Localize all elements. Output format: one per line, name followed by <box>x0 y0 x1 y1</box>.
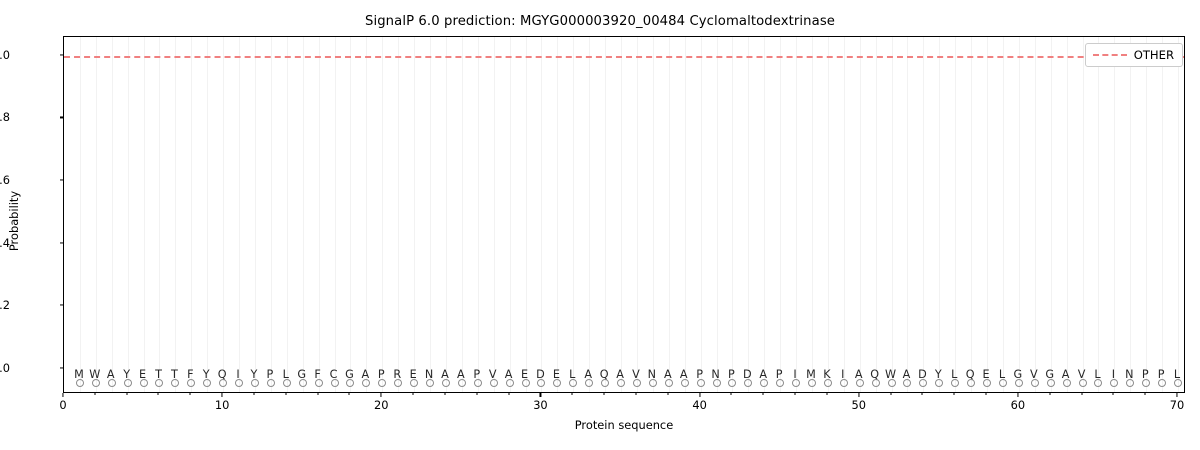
x-tick-minor-mark <box>253 393 254 395</box>
x-tick-minor-mark <box>413 393 414 395</box>
gridline <box>1178 37 1179 392</box>
gridline <box>669 37 670 392</box>
residue-letter: I <box>1112 368 1115 381</box>
gridline <box>796 37 797 392</box>
gridline <box>685 37 686 392</box>
gridline <box>382 37 383 392</box>
x-tick-label: 40 <box>692 398 707 412</box>
residue-letter: N <box>1125 368 1133 381</box>
x-tick-minor-mark <box>1049 393 1050 395</box>
x-tick-minor-mark <box>826 393 827 395</box>
gridline <box>828 37 829 392</box>
residue-letter: Y <box>935 368 942 381</box>
residue-letter: P <box>473 368 480 381</box>
gridline <box>510 37 511 392</box>
signalp-prediction-figure: SignalP 6.0 prediction: MGYG000003920_00… <box>0 0 1200 450</box>
x-tick-mark <box>699 393 700 397</box>
residue-letter: W <box>89 368 100 381</box>
x-tick-minor-mark <box>1081 393 1082 395</box>
gridline <box>223 37 224 392</box>
residue-letter: E <box>521 368 528 381</box>
gridline <box>128 37 129 392</box>
residue-letter: D <box>743 368 752 381</box>
legend[interactable]: OTHER <box>1085 43 1183 67</box>
residue-letter: V <box>632 368 640 381</box>
gridline <box>112 37 113 392</box>
gridline <box>844 37 845 392</box>
gridline <box>335 37 336 392</box>
residue-letter: V <box>1078 368 1086 381</box>
gridline <box>955 37 956 392</box>
residue-letter: T <box>171 368 178 381</box>
gridline <box>446 37 447 392</box>
residue-letter: A <box>855 368 863 381</box>
residue-letter: Y <box>251 368 258 381</box>
residue-letter: P <box>728 368 735 381</box>
gridline <box>764 37 765 392</box>
x-tick-mark <box>858 393 859 397</box>
residue-letter: A <box>903 368 911 381</box>
residue-letter: F <box>314 368 320 381</box>
gridline <box>287 37 288 392</box>
residue-letter: T <box>155 368 162 381</box>
gridline <box>637 37 638 392</box>
gridline <box>939 37 940 392</box>
x-tick-minor-mark <box>795 393 796 395</box>
gridline <box>255 37 256 392</box>
residue-letter: A <box>584 368 592 381</box>
x-tick-minor-mark <box>1113 393 1114 395</box>
gridline <box>717 37 718 392</box>
gridline <box>1051 37 1052 392</box>
residue-letter: A <box>1062 368 1070 381</box>
residue-letter: E <box>983 368 990 381</box>
residue-letter: A <box>457 368 465 381</box>
x-tick-label: 70 <box>1170 398 1185 412</box>
gridline <box>144 37 145 392</box>
vertical-gridlines <box>64 37 1184 392</box>
gridline <box>414 37 415 392</box>
gridline <box>605 37 606 392</box>
gridline <box>860 37 861 392</box>
gridline <box>430 37 431 392</box>
y-tick-mark <box>60 242 64 243</box>
gridline <box>1067 37 1068 392</box>
gridline <box>462 37 463 392</box>
residue-letter: D <box>918 368 927 381</box>
residue-letter: A <box>759 368 767 381</box>
gridline <box>557 37 558 392</box>
gridline <box>239 37 240 392</box>
gridline <box>478 37 479 392</box>
x-tick-mark <box>62 393 63 397</box>
gridline <box>701 37 702 392</box>
x-tick-label: 30 <box>533 398 548 412</box>
gridline <box>207 37 208 392</box>
plot-area <box>63 36 1185 393</box>
y-tick-mark <box>60 54 64 55</box>
residue-letter: N <box>648 368 656 381</box>
gridline <box>589 37 590 392</box>
residue-letter: A <box>680 368 688 381</box>
residue-letter: E <box>139 368 146 381</box>
residue-letter: V <box>489 368 497 381</box>
residue-letter: G <box>1045 368 1054 381</box>
x-tick-minor-mark <box>158 393 159 395</box>
residue-letter: C <box>330 368 338 381</box>
gridline <box>319 37 320 392</box>
x-tick-minor-mark <box>1145 393 1146 395</box>
gridline <box>573 37 574 392</box>
residue-letter: E <box>410 368 417 381</box>
x-tick-minor-mark <box>444 393 445 395</box>
residue-letter: L <box>999 368 1005 381</box>
gridline <box>1035 37 1036 392</box>
gridline <box>780 37 781 392</box>
x-tick-minor-mark <box>349 393 350 395</box>
gridline <box>907 37 908 392</box>
residue-letter: F <box>187 368 193 381</box>
gridline <box>1003 37 1004 392</box>
residue-letter: I <box>841 368 844 381</box>
gridline <box>892 37 893 392</box>
residue-letter: I <box>793 368 796 381</box>
gridline <box>526 37 527 392</box>
residue-letter: L <box>569 368 575 381</box>
gridline <box>191 37 192 392</box>
residue-letter: M <box>806 368 816 381</box>
page-title: SignalP 6.0 prediction: MGYG000003920_00… <box>0 14 1200 29</box>
gridline <box>1098 37 1099 392</box>
residue-letter: M <box>74 368 84 381</box>
x-tick-minor-mark <box>285 393 286 395</box>
x-tick-label: 10 <box>215 398 230 412</box>
gridline <box>494 37 495 392</box>
residue-letter: P <box>1142 368 1149 381</box>
gridline <box>1019 37 1020 392</box>
x-tick-minor-mark <box>476 393 477 395</box>
gridline <box>303 37 304 392</box>
gridline <box>96 37 97 392</box>
residue-letter: E <box>553 368 560 381</box>
gridline <box>748 37 749 392</box>
x-tick-minor-mark <box>126 393 127 395</box>
residue-letter: L <box>951 368 957 381</box>
gridline <box>621 37 622 392</box>
y-axis-label: Probability <box>7 121 21 321</box>
x-tick-label: 50 <box>851 398 866 412</box>
residue-letter: L <box>1094 368 1100 381</box>
x-tick-minor-mark <box>667 393 668 395</box>
gridline <box>398 37 399 392</box>
residue-letter: R <box>393 368 401 381</box>
gridline <box>350 37 351 392</box>
gridline <box>987 37 988 392</box>
residue-letter: N <box>711 368 719 381</box>
x-tick-mark <box>381 393 382 397</box>
residue-letter: A <box>362 368 370 381</box>
x-tick-label: 20 <box>374 398 389 412</box>
residue-letter: L <box>283 368 289 381</box>
residue-letter: P <box>696 368 703 381</box>
x-tick-mark <box>540 393 541 397</box>
x-tick-label: 60 <box>1011 398 1026 412</box>
x-tick-mark <box>222 393 223 397</box>
residue-letter: Q <box>966 368 975 381</box>
x-tick-minor-mark <box>890 393 891 395</box>
gridline <box>653 37 654 392</box>
residue-letter: A <box>107 368 115 381</box>
x-tick-minor-mark <box>763 393 764 395</box>
gridline <box>876 37 877 392</box>
y-tick-mark <box>60 117 64 118</box>
gridline <box>159 37 160 392</box>
residue-letter: L <box>1174 368 1180 381</box>
residue-letter: A <box>616 368 624 381</box>
gridline <box>175 37 176 392</box>
x-tick-minor-mark <box>508 393 509 395</box>
residue-letter: Q <box>218 368 227 381</box>
gridline <box>366 37 367 392</box>
gridline <box>1083 37 1084 392</box>
y-tick-label: 0.0 <box>0 361 10 375</box>
residue-letter: Y <box>203 368 210 381</box>
gridline <box>80 37 81 392</box>
x-tick-mark <box>1176 393 1177 397</box>
x-tick-minor-mark <box>922 393 923 395</box>
residue-letter: A <box>664 368 672 381</box>
residue-letter: G <box>297 368 306 381</box>
y-tick-mark <box>60 305 64 306</box>
x-tick-minor-mark <box>190 393 191 395</box>
residue-letter: P <box>776 368 783 381</box>
x-tick-minor-mark <box>604 393 605 395</box>
residue-letter: Q <box>870 368 879 381</box>
x-tick-minor-mark <box>954 393 955 395</box>
gridline <box>732 37 733 392</box>
residue-letter: D <box>536 368 545 381</box>
residue-letter: I <box>236 368 239 381</box>
gridline <box>971 37 972 392</box>
gridline <box>1162 37 1163 392</box>
gridline <box>1130 37 1131 392</box>
residue-letter: Q <box>600 368 609 381</box>
gridline <box>812 37 813 392</box>
x-tick-label: 0 <box>59 398 66 412</box>
residue-letter: W <box>885 368 896 381</box>
x-tick-minor-mark <box>731 393 732 395</box>
x-tick-minor-mark <box>94 393 95 395</box>
residue-letter: A <box>505 368 513 381</box>
x-tick-minor-mark <box>572 393 573 395</box>
legend-swatch-other <box>1093 54 1127 56</box>
residue-letter: G <box>1014 368 1023 381</box>
gridline <box>1114 37 1115 392</box>
residue-letter: K <box>823 368 830 381</box>
residue-letter: A <box>441 368 449 381</box>
gridline <box>541 37 542 392</box>
residue-letter: P <box>267 368 274 381</box>
y-tick-mark <box>60 367 64 368</box>
residue-letter: G <box>345 368 354 381</box>
legend-label-other: OTHER <box>1134 48 1174 62</box>
x-tick-mark <box>1017 393 1018 397</box>
x-axis-label: Protein sequence <box>63 418 1185 432</box>
residue-letter: N <box>425 368 433 381</box>
gridline <box>1146 37 1147 392</box>
x-tick-minor-mark <box>986 393 987 395</box>
residue-letter: V <box>1030 368 1038 381</box>
residue-letter: Y <box>123 368 130 381</box>
y-tick-label: 1.0 <box>0 48 10 62</box>
gridline <box>271 37 272 392</box>
x-tick-minor-mark <box>317 393 318 395</box>
gridline <box>923 37 924 392</box>
y-tick-mark <box>60 180 64 181</box>
series-line-other <box>64 56 1184 58</box>
residue-letter: P <box>1158 368 1165 381</box>
x-tick-minor-mark <box>635 393 636 395</box>
residue-letter: P <box>378 368 385 381</box>
